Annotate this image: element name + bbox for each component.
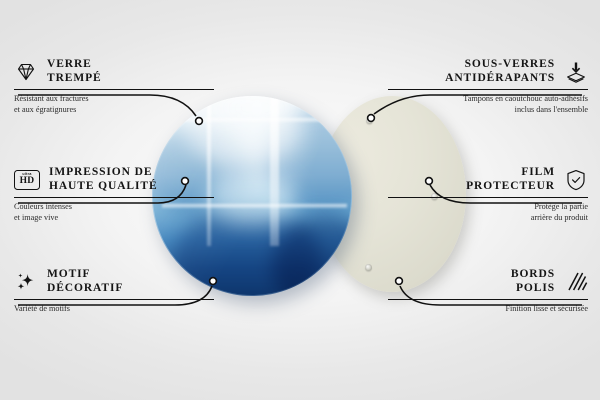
- feature-subtitle: Finition lisse et sécurisée: [388, 304, 588, 315]
- rubber-pad: [342, 192, 349, 199]
- anti-slip-pad-icon: [564, 60, 588, 84]
- feature-header: MOTIF DÉCORATIF: [14, 268, 214, 295]
- feature-divider: [388, 197, 588, 198]
- feature-divider: [388, 89, 588, 90]
- feature-subtitle: Protège la partie arrière du produit: [388, 202, 588, 223]
- window-mullion-vertical: [270, 96, 279, 246]
- feature-divider: [14, 197, 214, 198]
- feature-subtitle: Tampons en caoutchouc auto-adhésifs incl…: [388, 94, 588, 115]
- feature-divider: [14, 299, 214, 300]
- feature-bords-polis: BORDS POLIS Finition lisse et sécurisée: [388, 268, 588, 315]
- diamond-icon: [14, 60, 38, 84]
- feature-subtitle: Couleurs intenses et image vive: [14, 202, 214, 223]
- shield-check-icon: [564, 168, 588, 192]
- sparkles-icon: [14, 270, 38, 294]
- feature-title: MOTIF DÉCORATIF: [47, 268, 123, 295]
- feature-divider: [14, 89, 214, 90]
- feature-title: FILM PROTECTEUR: [466, 166, 555, 193]
- connector-dot-sous-verres: [368, 115, 375, 122]
- feature-header: VERRE TREMPÉ: [14, 58, 214, 85]
- watercolor-highlight: [207, 171, 297, 226]
- feature-title: IMPRESSION DE HAUTE QUALITÉ: [49, 166, 158, 193]
- watercolor-blotch: [272, 216, 352, 296]
- feature-divider: [388, 299, 588, 300]
- rubber-pad: [366, 117, 373, 124]
- feature-subtitle: Variété de motifs: [14, 304, 214, 315]
- feature-header: FILM PROTECTEUR: [388, 166, 588, 193]
- ultra-hd-badge-main-text: HD: [20, 177, 35, 187]
- feature-title: VERRE TREMPÉ: [47, 58, 102, 85]
- feature-impression-haute-qualite: ultra HD IMPRESSION DE HAUTE QUALITÉ Cou…: [14, 166, 214, 223]
- polished-edges-icon: [564, 270, 588, 294]
- feature-header: BORDS POLIS: [388, 268, 588, 295]
- feature-verre-trempe: VERRE TREMPÉ Résistant aux fractures et …: [14, 58, 214, 115]
- feature-sous-verres-antiderapants: SOUS-VERRES ANTIDÉRAPANTS Tampons en cao…: [388, 58, 588, 115]
- feature-subtitle: Résistant aux fractures et aux égratignu…: [14, 94, 214, 115]
- feature-motif-decoratif: MOTIF DÉCORATIF Variété de motifs: [14, 268, 214, 315]
- window-mullion-horizontal: [172, 118, 337, 122]
- feature-header: ultra HD IMPRESSION DE HAUTE QUALITÉ: [14, 166, 214, 193]
- rubber-pad: [365, 264, 372, 271]
- feature-title: SOUS-VERRES ANTIDÉRAPANTS: [445, 58, 555, 85]
- watercolor-blotch: [262, 106, 352, 216]
- connector-dot-verre-trempe: [196, 118, 203, 125]
- feature-title: BORDS POLIS: [511, 268, 555, 295]
- feature-header: SOUS-VERRES ANTIDÉRAPANTS: [388, 58, 588, 85]
- feature-film-protecteur: FILM PROTECTEUR Protège la partie arrièr…: [388, 166, 588, 223]
- ultra-hd-badge-icon: ultra HD: [14, 170, 40, 190]
